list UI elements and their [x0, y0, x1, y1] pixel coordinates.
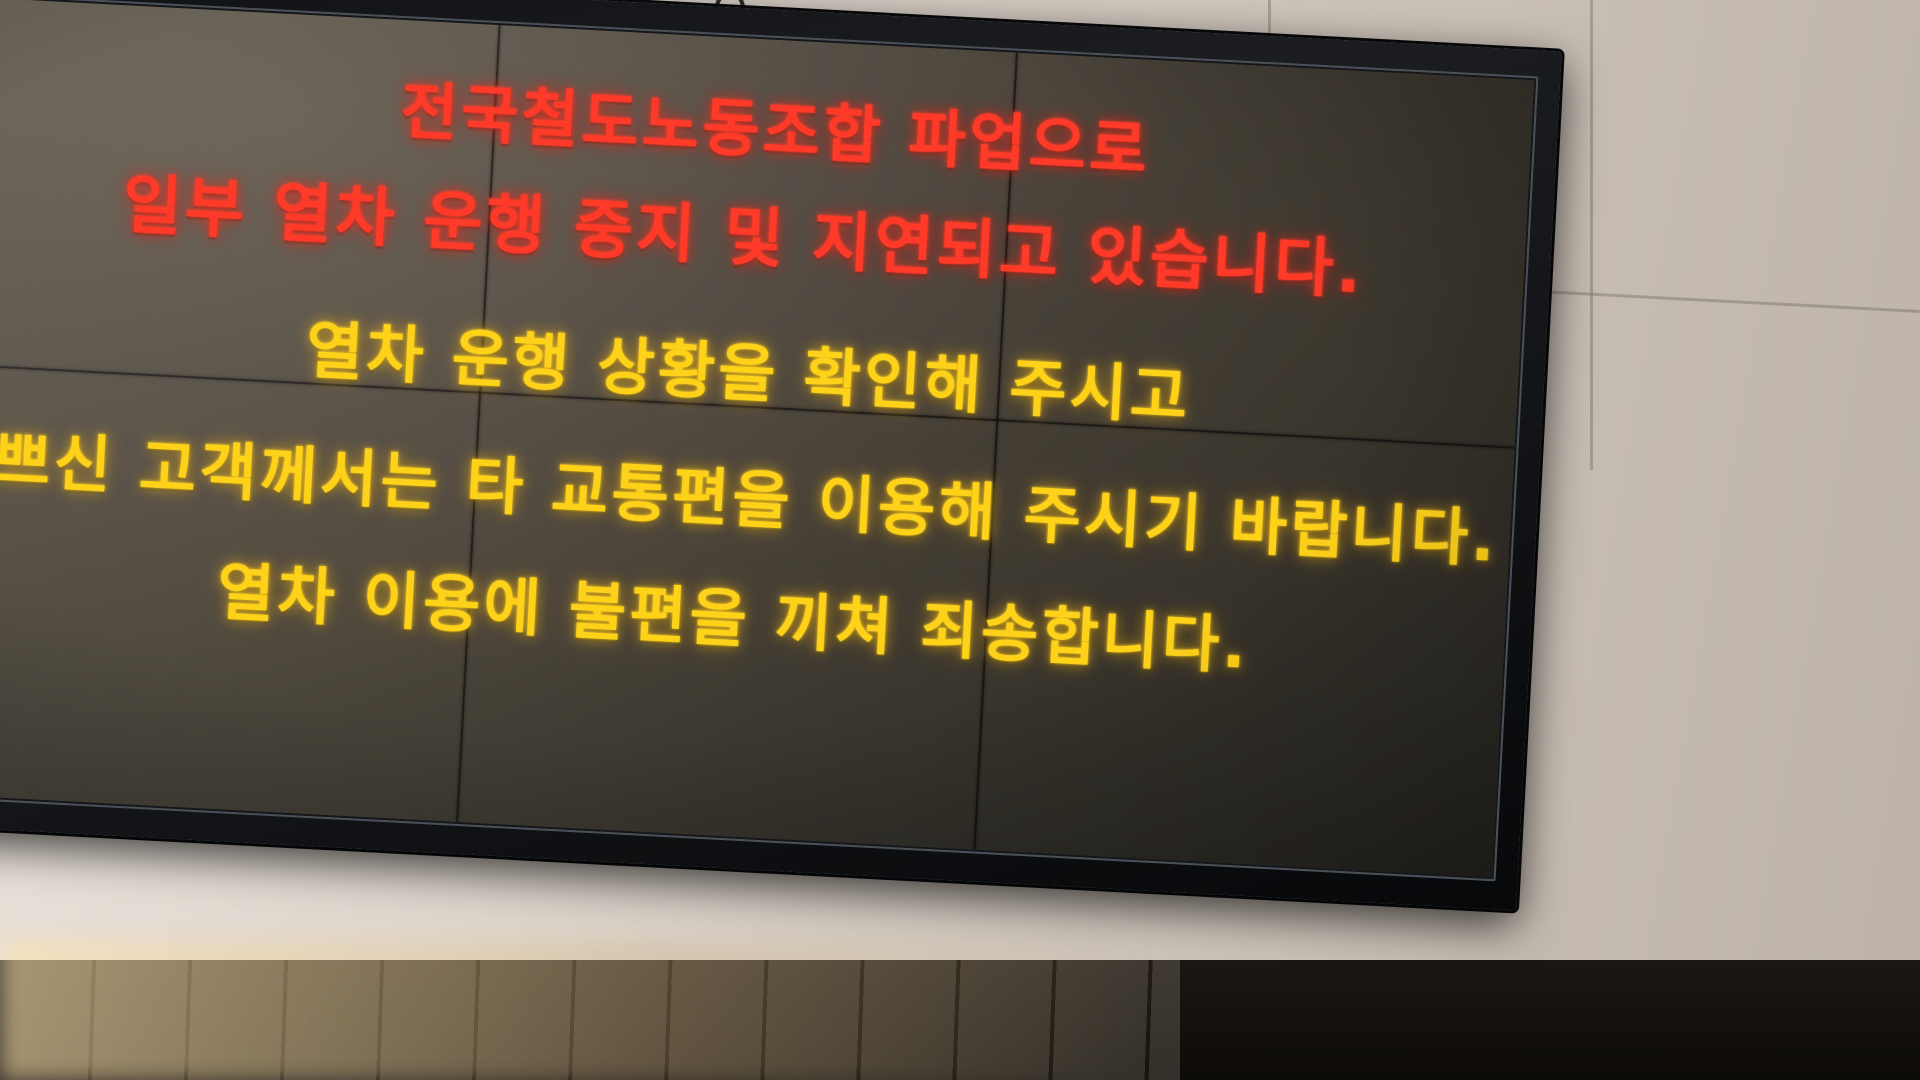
- wall-panel-seam-2: [1590, 0, 1593, 470]
- screen-vignette: [0, 0, 1534, 877]
- floor-light-glow: [0, 940, 1150, 1080]
- screenshot-stage: 전국철도노동조합 파업으로 일부 열차 운행 중지 및 지연되고 있습니다. 열…: [0, 0, 1920, 1080]
- notice-board: 전국철도노동조합 파업으로 일부 열차 운행 중지 및 지연되고 있습니다. 열…: [0, 0, 1562, 910]
- display-screen: 전국철도노동조합 파업으로 일부 열차 운행 중지 및 지연되고 있습니다. 열…: [0, 0, 1534, 877]
